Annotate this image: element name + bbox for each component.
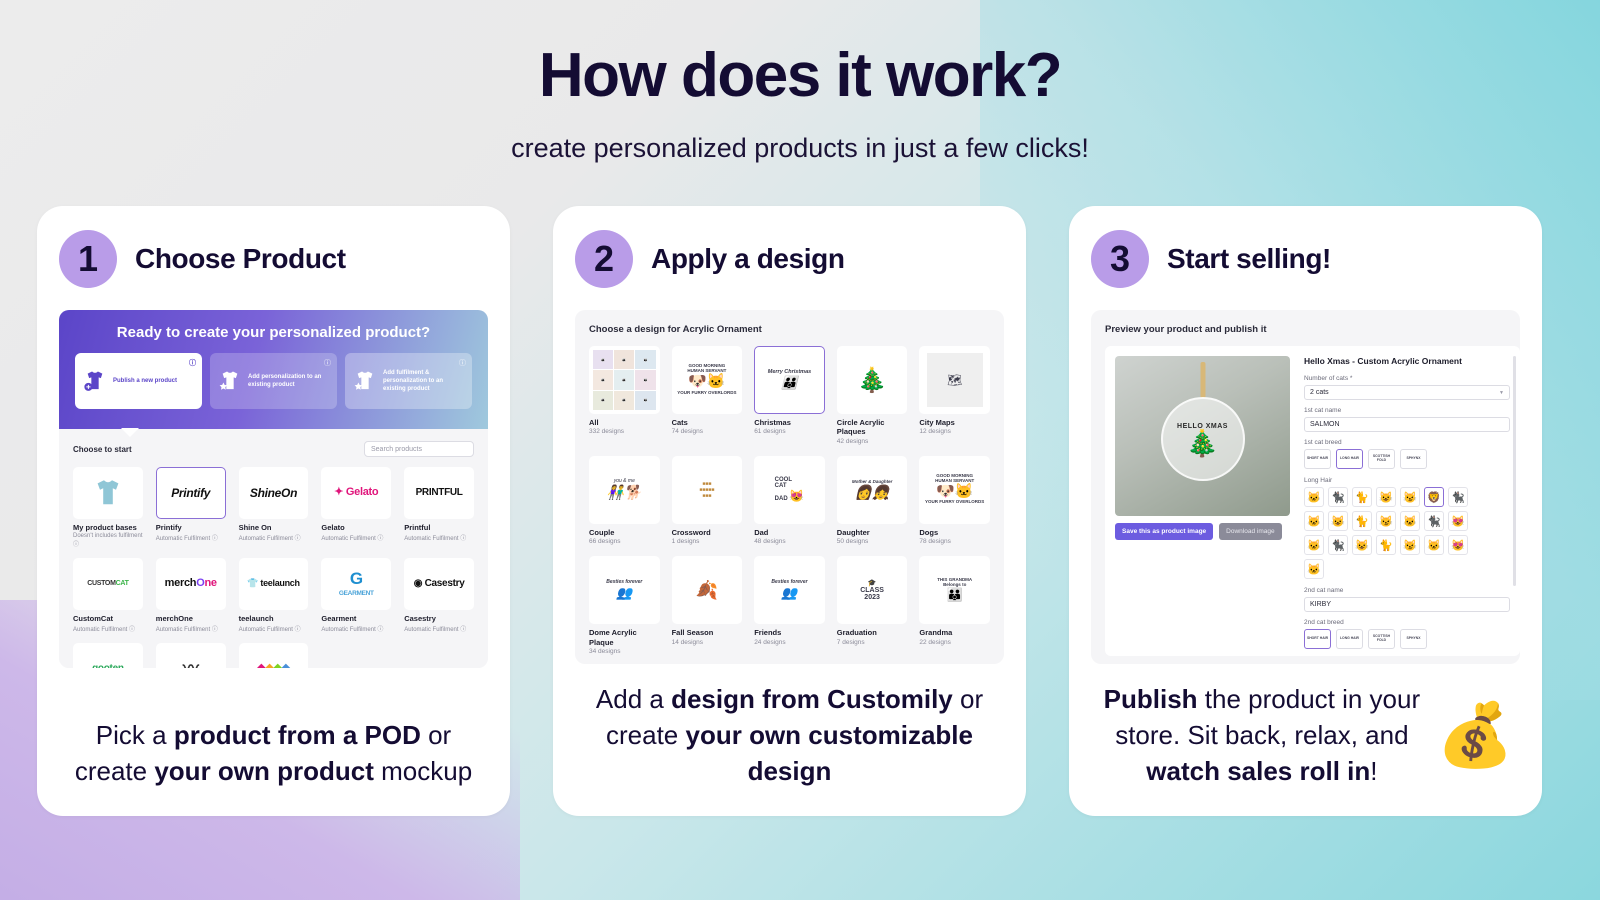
brand-name: Shine On [239,523,309,532]
number-of-cats-value: 2 cats [1310,389,1329,396]
design-name: Crossword [672,528,743,537]
design-picker-heading: Choose a design for Acrylic Ornament [589,324,990,335]
brand-logo-gelato[interactable]: ✦ Gelato [321,467,391,519]
design-count: 74 designs [672,428,743,435]
design-name: City Maps [919,418,990,427]
caption-segment: your own customizable design [686,720,974,786]
cat-breed-swatch[interactable]: 🐈‍⬛ [1328,535,1348,555]
cat-breed-swatch[interactable]: 🐱 [1304,535,1324,555]
first-cat-breed-options: SHORT HAIRLONG HAIRSCOTTISH FOLDSPHYNX [1304,449,1510,469]
pod-tile-add-fulfilment-personalization[interactable]: ⓘ Add fulfilment & personalization to an… [345,353,472,409]
design-count: 66 designs [589,538,660,545]
design-thumbnail[interactable]: 👪👪👪👪👪👪👪👪👪 [589,346,660,414]
tshirt-star-icon [353,370,377,392]
design-thumbnail[interactable]: COOLCATDAD 😻 [754,456,825,524]
brand-logo-shineon[interactable]: ShineOn [239,467,309,519]
design-name: Dogs [919,528,990,537]
pod-banner-title: Ready to create your personalized produc… [75,324,472,341]
cat-breed-swatch[interactable]: 😺 [1352,535,1372,555]
tshirt-star-icon [218,370,242,392]
design-thumbnail[interactable]: 🗺 [919,346,990,414]
design-thumbnail[interactable]: GOOD MORNINGHUMAN SERVANT🐶🐱YOUR FURRY OV… [919,456,990,524]
info-icon[interactable]: ⓘ [324,358,331,368]
design-name: Cats [672,418,743,427]
design-count: 7 designs [837,639,908,646]
brand-logo-merchone[interactable]: merchOne [156,558,226,610]
tshirt-plus-icon [83,370,107,392]
page-title: How does it work? [0,40,1600,111]
brand-fulfilment: Automatic Fulfilment ⓘ [404,624,474,633]
design-cell[interactable]: Mother & Daughter👩👧Daughter50 designs [837,456,908,545]
pod-banner: Ready to create your personalized produc… [59,310,488,429]
design-count: 14 designs [672,639,743,646]
brand-logo-tshirt[interactable] [73,467,143,519]
caption-segment: your own product [154,756,374,786]
cat-breed-swatch[interactable]: 🐈 [1376,535,1396,555]
design-count: 12 designs [919,428,990,435]
chevron-down-icon: ▼ [1499,390,1504,396]
design-count: 34 designs [589,648,660,655]
brand-logo-casestry[interactable]: ◉ Casestry [404,558,474,610]
page-root: How does it work? create personalized pr… [0,0,1600,900]
design-count: 50 designs [837,538,908,545]
breed-option[interactable]: SPHYNX [1400,629,1427,649]
pod-tile-add-personalization[interactable]: ⓘ Add personalization to an existing pro… [210,353,337,409]
design-name: Dad [754,528,825,537]
brand-cell[interactable]: ◉ CasestryCasestryAutomatic Fulfilment ⓘ [404,558,474,633]
breed-option[interactable]: SCOTTISH FOLD [1368,449,1395,469]
design-cell[interactable]: 🎄Circle Acrylic Plaques42 designs [837,346,908,445]
cat-breed-swatch[interactable]: 🐱 [1424,535,1444,555]
design-cell[interactable]: THIS GRANDMABelongs to👪Grandma22 designs [919,556,990,655]
cat-breed-swatch[interactable]: 🐱 [1304,487,1324,507]
pod-body: Choose to start Search products My produ… [59,429,488,668]
design-cell[interactable]: Besties forever👥Dome Acrylic Plaque34 de… [589,556,660,655]
card3-screenshot: Preview your product and publish it HELL… [1091,310,1520,664]
cat-breed-swatch[interactable]: 🐱 [1304,511,1324,531]
first-cat-name-value: SALMON [1310,421,1340,428]
step-number-badge-1: 1 [59,230,117,288]
brand-fulfilment: Automatic Fulfilment ⓘ [156,624,226,633]
design-name: Graduation [837,628,908,637]
caption-segment: Pick a [96,720,174,750]
brand-cell[interactable]: ◆◆◆◆ [239,643,309,668]
step-card-2: 2 Apply a design Choose a design for Acr… [553,206,1026,816]
first-cat-name-input[interactable]: SALMON [1304,417,1510,432]
design-thumbnail[interactable]: you & me👫🐕 [589,456,660,524]
number-of-cats-label: Number of cats * [1304,375,1510,382]
money-bag-icon: 💰 [1437,693,1514,779]
design-thumbnail[interactable]: 🎓CLASS2023 [837,556,908,624]
step-number-badge-2: 2 [575,230,633,288]
design-cell[interactable]: ■■■■■■■■■■■Crossword1 designs [672,456,743,545]
brand-fulfilment: Doesn't includes fulfilment ⓘ [73,533,143,548]
design-thumbnail[interactable]: Merry Christmas👪 [754,346,825,414]
design-cell[interactable]: Merry Christmas👪Christmas61 designs [754,346,825,445]
card2-screenshot: Choose a design for Acrylic Ornament 👪👪👪… [575,310,1004,664]
brand-logo-gearment[interactable]: GGEARMENT [321,558,391,610]
brand-logo-dots[interactable]: ◆◆◆◆ [239,643,309,668]
design-count: 1 designs [672,538,743,545]
design-grid: 👪👪👪👪👪👪👪👪👪All332 designsGOOD MORNINGHUMAN… [589,346,990,664]
design-name: All [589,418,660,427]
brand-cell[interactable]: ✦ GelatoGelatoAutomatic Fulfilment ⓘ [321,467,391,548]
design-cell[interactable]: 🍂Fall Season14 designs [672,556,743,655]
brand-cell[interactable]: My product basesDoesn't includes fulfilm… [73,467,143,548]
selection-pointer [121,428,139,437]
design-name: Dome Acrylic Plaque [589,628,660,647]
design-count: 61 designs [754,428,825,435]
cat-breed-swatch[interactable]: 🐈 [1352,511,1372,531]
design-name: Daughter [837,528,908,537]
design-count: 78 designs [919,538,990,545]
brand-name: Printful [404,523,474,532]
save-as-product-image-button[interactable]: Save this as product image [1115,523,1213,540]
step-card-3-header: 3 Start selling! [1091,230,1520,288]
brand-cell[interactable]: gooten [73,643,143,668]
step-card-2-title: Apply a design [651,243,845,275]
cat-breed-swatch[interactable]: 😻 [1448,535,1468,555]
preview-column: HELLO XMAS 🎄 Save this as product image … [1115,356,1290,646]
design-name: Fall Season [672,628,743,637]
step-card-2-header: 2 Apply a design [575,230,1004,288]
cat-breed-swatch[interactable]: 😼 [1400,487,1420,507]
cat-swatch-grid: 🐱🐈‍⬛🐈😺😼🦁🐈‍⬛🐱😺🐈😼🐱🐈‍⬛😻🐱🐈‍⬛😺🐈😼🐱😻🐱 [1304,487,1510,579]
caption-segment: product from a POD [174,720,421,750]
design-cell[interactable]: 🎓CLASS2023Graduation7 designs [837,556,908,655]
brand-fulfilment: Automatic Fulfilment ⓘ [239,624,309,633]
brand-logo-printful[interactable]: PRINTFUL [404,467,474,519]
caption-segment: watch sales roll in [1146,756,1370,786]
preview-buttons: Save this as product image Download imag… [1115,523,1290,540]
brand-fulfilment: Automatic Fulfilment ⓘ [73,624,143,633]
design-count: 48 designs [754,538,825,545]
design-thumbnail[interactable]: Besties forever👥 [754,556,825,624]
brand-name: CustomCat [73,614,143,623]
cat-breed-swatch[interactable]: 😼 [1400,535,1420,555]
design-cell[interactable]: COOLCATDAD 😻Dad48 designs [754,456,825,545]
choose-to-start-label: Choose to start [73,445,132,454]
step-card-3-caption: Publish the product in your store. Sit b… [1091,664,1520,816]
brand-cell[interactable]: 👕 teelaunchteelaunchAutomatic Fulfilment… [239,558,309,633]
product-preview-image: HELLO XMAS 🎄 [1115,356,1290,516]
design-name: Christmas [754,418,825,427]
caption-segment: ! [1370,756,1377,786]
first-cat-breed-label: 1st cat breed [1304,439,1510,446]
breed-option[interactable]: SCOTTISH FOLD [1368,629,1395,649]
personalization-form: Hello Xmas - Custom Acrylic Ornament Num… [1304,356,1510,646]
step-number-badge-3: 3 [1091,230,1149,288]
pod-tile-label-1: Publish a new product [113,377,177,385]
cat-breed-swatch[interactable]: 🐈‍⬛ [1424,511,1444,531]
brand-logo-gooten[interactable]: gooten [73,643,143,668]
wreath-icon: 🎄 [1186,430,1218,456]
page-subtitle: create personalized products in just a f… [0,133,1600,164]
steps-container: 1 Choose Product Ready to create your pe… [0,206,1600,816]
brand-fulfilment: Automatic Fulfilment ⓘ [321,624,391,633]
info-icon[interactable]: ⓘ [189,358,196,368]
brand-logo-swirl[interactable]: 〰 [156,643,226,668]
brand-name: Casestry [404,614,474,623]
design-cell[interactable]: GOOD MORNINGHUMAN SERVANT🐶🐱YOUR FURRY OV… [672,346,743,445]
info-icon[interactable]: ⓘ [459,358,466,368]
design-name: Friends [754,628,825,637]
caption-segment: design from Customily [671,684,953,714]
cat-breed-swatch[interactable]: 🐈 [1352,487,1372,507]
second-cat-name-value: KIRBY [1310,601,1331,608]
hero-section: How does it work? create personalized pr… [0,0,1600,164]
brand-fulfilment: Automatic Fulfilment ⓘ [239,533,309,542]
brand-cell[interactable]: PRINTFULPrintfulAutomatic Fulfilment ⓘ [404,467,474,548]
second-cat-breed-options: SHORT HAIRLONG HAIRSCOTTISH FOLDSPHYNX [1304,629,1510,649]
long-hair-label: Long Hair [1304,477,1510,484]
step-card-3-title: Start selling! [1167,243,1331,275]
second-cat-name-input[interactable]: KIRBY [1304,597,1510,612]
cat-breed-swatch[interactable]: 😺 [1328,511,1348,531]
cat-breed-swatch[interactable]: 😼 [1376,511,1396,531]
design-name: Grandma [919,628,990,637]
cat-breed-swatch[interactable]: 🐱 [1400,511,1420,531]
design-count: 332 designs [589,428,660,435]
design-thumbnail[interactable]: THIS GRANDMABelongs to👪 [919,556,990,624]
step-card-2-caption: Add a design from Customily or create yo… [575,664,1004,816]
cat-breed-swatch[interactable]: 😻 [1448,511,1468,531]
publish-pane-heading: Preview your product and publish it [1105,324,1520,335]
cat-breed-swatch[interactable]: 🦁 [1424,487,1444,507]
design-cell[interactable]: 👪👪👪👪👪👪👪👪👪All332 designs [589,346,660,445]
caption-segment: Add a [596,684,671,714]
publish-body: HELLO XMAS 🎄 Save this as product image … [1105,346,1520,656]
number-of-cats-select[interactable]: 2 cats ▼ [1304,385,1510,400]
cat-breed-swatch[interactable]: 🐱 [1304,559,1324,579]
brand-logo-teelaunch[interactable]: 👕 teelaunch [239,558,309,610]
pod-tile-publish-new-product[interactable]: ⓘ Publish a new product [75,353,202,409]
caption-segment: mockup [374,756,472,786]
design-cell[interactable]: GOOD MORNINGHUMAN SERVANT🐶🐱YOUR FURRY OV… [919,456,990,545]
cat-breed-swatch[interactable]: 🐈‍⬛ [1448,487,1468,507]
breed-option[interactable]: SHORT HAIR [1304,449,1331,469]
second-cat-name-label: 2nd cat name [1304,587,1510,594]
ornament-graphic: HELLO XMAS 🎄 [1161,397,1245,481]
design-thumbnail[interactable]: ■■■■■■■■■■■ [672,456,743,524]
brand-cell[interactable]: PrintifyPrintifyAutomatic Fulfilment ⓘ [156,467,226,548]
design-cell[interactable]: 🗺City Maps12 designs [919,346,990,445]
step-card-3: 3 Start selling! Preview your product an… [1069,206,1542,816]
breed-option[interactable]: SHORT HAIR [1304,629,1331,649]
cat-breed-swatch[interactable]: 😺 [1376,487,1396,507]
design-name: Couple [589,528,660,537]
design-thumbnail[interactable]: GOOD MORNINGHUMAN SERVANT🐶🐱YOUR FURRY OV… [672,346,743,414]
second-cat-breed-label: 2nd cat breed [1304,619,1510,626]
product-title: Hello Xmas - Custom Acrylic Ornament [1304,356,1510,366]
brand-name: merchOne [156,614,226,623]
design-count: 24 designs [754,639,825,646]
design-cell[interactable]: Besties forever👥Friends24 designs [754,556,825,655]
design-name: Circle Acrylic Plaques [837,418,908,437]
brand-fulfilment: Automatic Fulfilment ⓘ [321,533,391,542]
brand-name: teelaunch [239,614,309,623]
design-thumbnail[interactable]: 🍂 [672,556,743,624]
brand-cell[interactable]: CUSTOMCATCustomCatAutomatic Fulfilment ⓘ [73,558,143,633]
brand-logo-printify[interactable]: Printify [156,467,226,519]
pod-tile-label-2: Add personalization to an existing produ… [248,373,329,389]
breed-option[interactable]: LONG HAIR [1336,449,1363,469]
breed-option[interactable]: SPHYNX [1400,449,1427,469]
design-thumbnail[interactable]: 🎄 [837,346,908,414]
design-picker-pane: Choose a design for Acrylic Ornament 👪👪👪… [575,310,1004,664]
brand-fulfilment: Automatic Fulfilment ⓘ [156,533,226,542]
pod-tile-label-3: Add fulfilment & personalization to an e… [383,369,464,393]
design-thumbnail[interactable]: Besties forever👥 [589,556,660,624]
form-scrollbar[interactable] [1513,356,1516,586]
brand-name: Gearment [321,614,391,623]
brand-name: Printify [156,523,226,532]
step-card-1-title: Choose Product [135,243,346,275]
design-count: 22 designs [919,639,990,646]
first-cat-name-label: 1st cat name [1304,407,1510,414]
step-card-1-header: 1 Choose Product [59,230,488,288]
design-cell[interactable]: you & me👫🐕Couple66 designs [589,456,660,545]
breed-option[interactable]: LONG HAIR [1336,629,1363,649]
step-card-1: 1 Choose Product Ready to create your pe… [37,206,510,816]
brand-name: My product bases [73,523,143,532]
brand-cell[interactable]: ShineOnShine OnAutomatic Fulfilment ⓘ [239,467,309,548]
brand-cell[interactable]: merchOnemerchOneAutomatic Fulfilment ⓘ [156,558,226,633]
brand-name: Gelato [321,523,391,532]
card1-screenshot: Ready to create your personalized produc… [59,310,488,668]
cat-breed-swatch[interactable]: 🐈‍⬛ [1328,487,1348,507]
brand-cell[interactable]: GGEARMENTGearmentAutomatic Fulfilment ⓘ [321,558,391,633]
brand-grid: My product basesDoesn't includes fulfilm… [73,467,474,668]
caption-segment: Publish [1104,684,1198,714]
brand-cell[interactable]: 〰 [156,643,226,668]
design-thumbnail[interactable]: Mother & Daughter👩👧 [837,456,908,524]
pod-body-header: Choose to start Search products [73,441,474,457]
download-image-button[interactable]: Download image [1219,523,1281,540]
design-count: 42 designs [837,438,908,445]
ornament-hook-icon [1200,362,1205,398]
pod-tiles: ⓘ Publish a new product ⓘ Add personal [75,353,472,409]
brand-fulfilment: Automatic Fulfilment ⓘ [404,533,474,542]
publish-pane: Preview your product and publish it HELL… [1091,310,1520,664]
search-products-input[interactable]: Search products [364,441,474,457]
brand-logo-customcat[interactable]: CUSTOMCAT [73,558,143,610]
step-card-1-caption: Pick a product from a POD or create your… [59,700,488,816]
